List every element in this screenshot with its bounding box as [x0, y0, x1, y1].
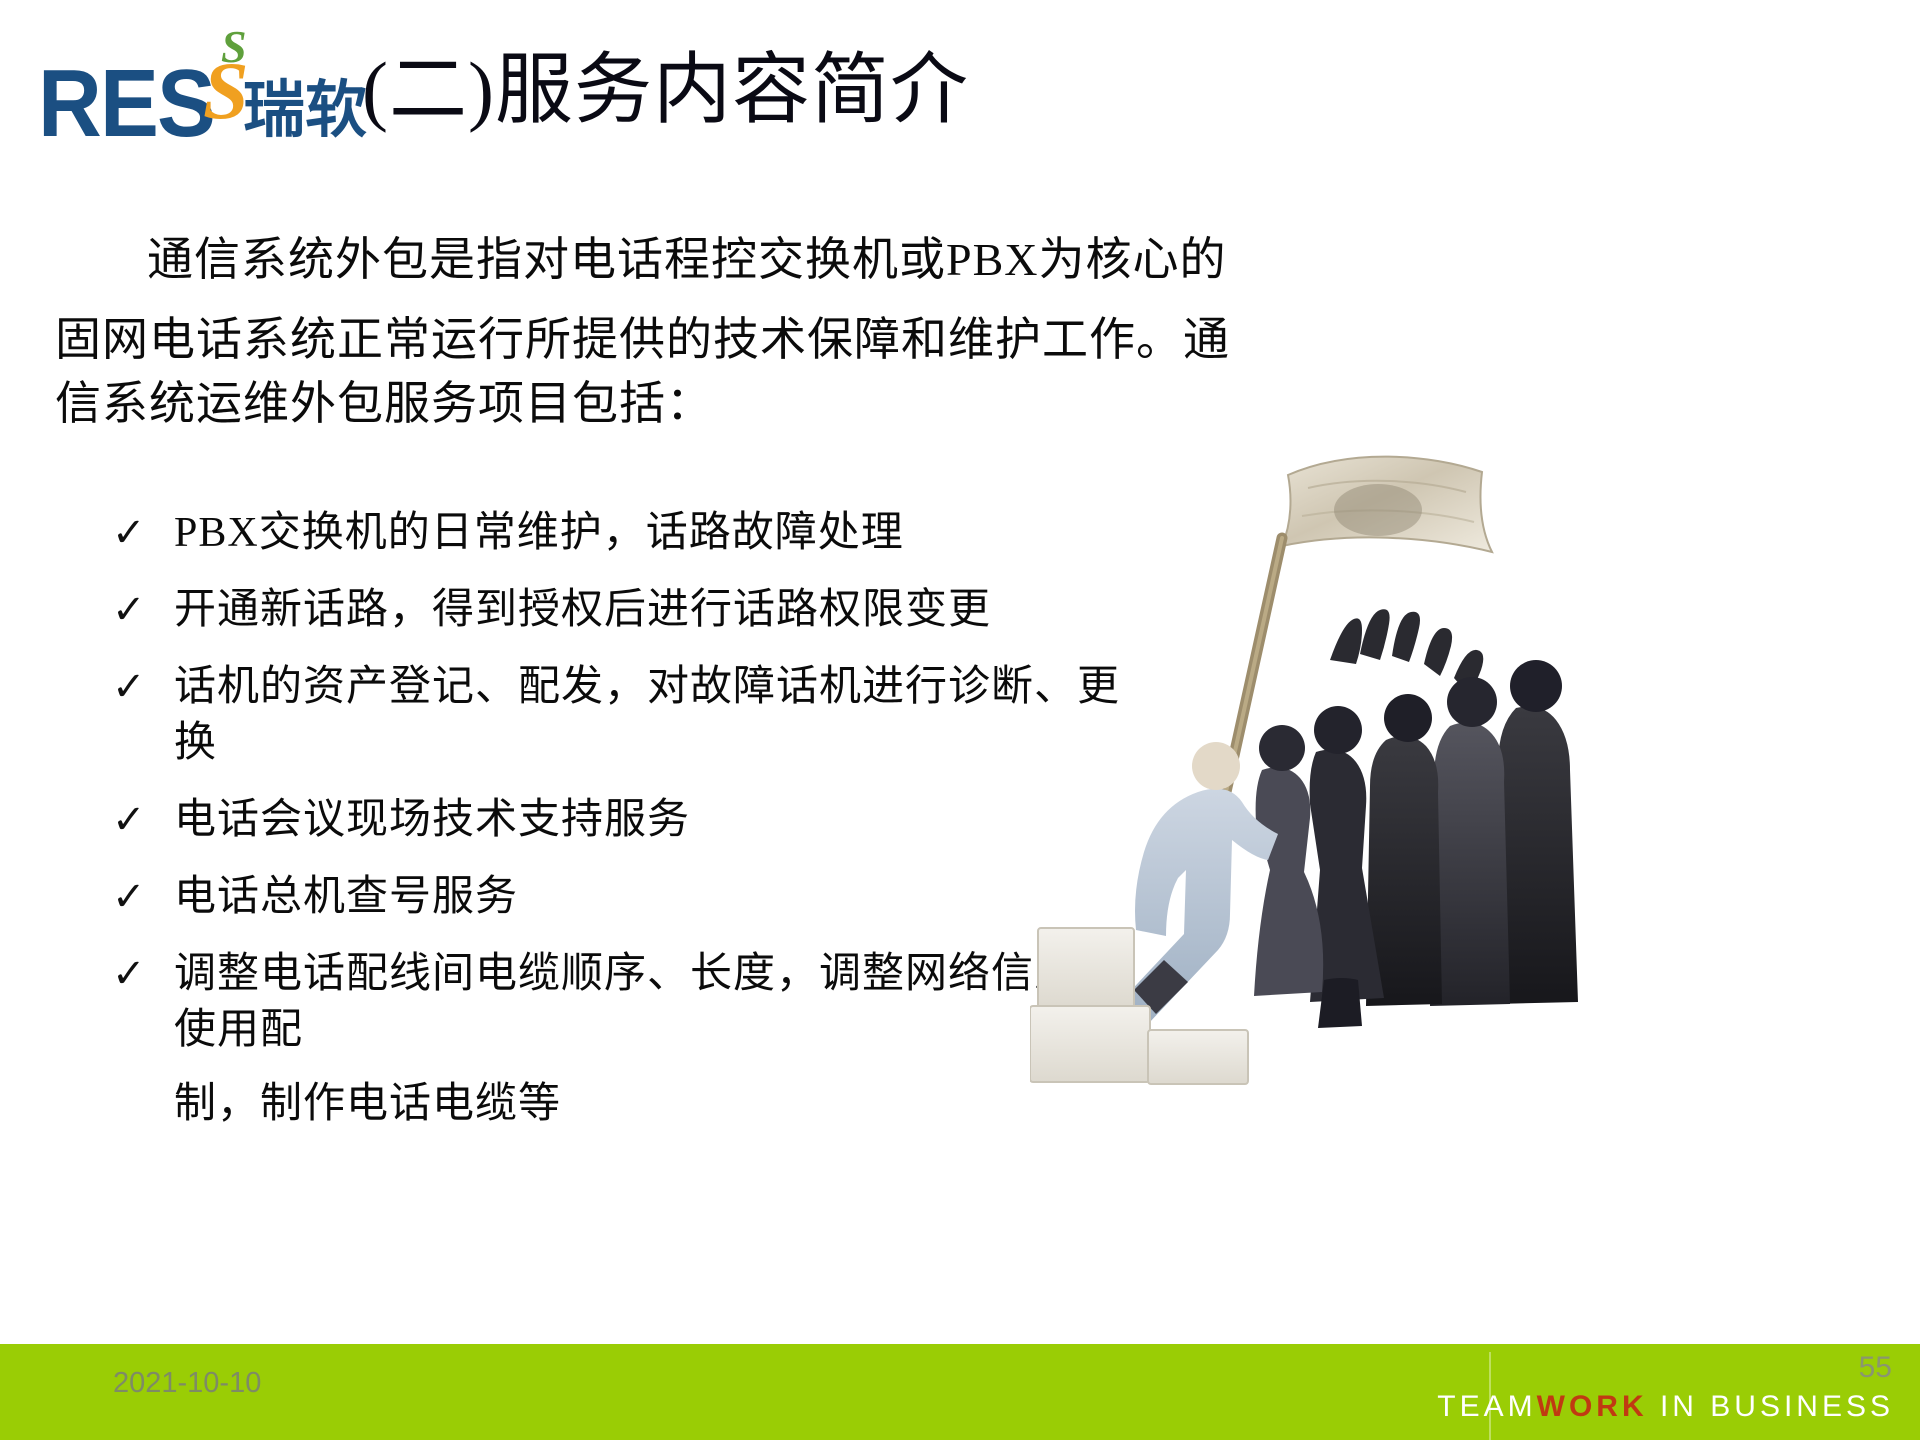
list-item-label: PBX交换机的日常维护，话路故障处理 [174, 505, 1122, 561]
slide-header: RES S S 瑞软 (二)服务内容简介 [0, 0, 1920, 175]
checkmark-icon: ✓ [112, 946, 174, 1002]
service-item-list: ✓ PBX交换机的日常维护，话路故障处理 ✓ 开通新话路，得到授权后进行话路权限… [112, 505, 1122, 1153]
paragraph-line: 通信系统外包是指对电话程控交换机或PBX为核心的 [55, 228, 1065, 292]
logo-wordmark-res: RES [38, 56, 214, 152]
list-item: ✓ 电话总机查号服务 [112, 869, 1122, 925]
list-item-label-line2: 制，制作电话电缆等 [174, 1076, 1122, 1132]
paragraph-line-text: 通信系统外包是指对电话程控交换机或PBX为核心的 [147, 234, 1226, 285]
person-silhouette [1430, 722, 1510, 1006]
box [1038, 928, 1134, 1008]
checkmark-icon: ✓ [112, 869, 174, 925]
paragraph-line-text: 信系统运维外包服务项目包括： [55, 378, 713, 429]
list-item: ✓ PBX交换机的日常维护，话路故障处理 [112, 505, 1122, 561]
list-item: ✓ 话机的资产登记、配发，对故障话机进行诊断、更换 [112, 659, 1122, 771]
list-item-label: 电话总机查号服务 [174, 869, 1122, 925]
list-item: ✓ 调整电话配线间电缆顺序、长度，调整网络信息点使用配制，制作电话电缆等 [112, 946, 1122, 1132]
paragraph-line: 信系统运维外包服务项目包括： [55, 372, 1065, 436]
page-number: 55 [1859, 1350, 1892, 1386]
checkmark-icon: ✓ [112, 792, 174, 848]
box [1030, 1006, 1150, 1082]
list-item-label: 电话会议现场技术支持服务 [174, 792, 1122, 848]
checkmark-icon: ✓ [112, 659, 174, 715]
list-item-label-line1: 调整电话配线间电缆顺序、长度，调整网络信息点使用配 [174, 951, 1120, 1053]
page-title: (二)服务内容简介 [362, 42, 969, 138]
tagline-prefix: TEAM [1437, 1390, 1536, 1423]
list-item: ✓ 开通新话路，得到授权后进行话路权限变更 [112, 582, 1122, 638]
list-item: ✓ 电话会议现场技术支持服务 [112, 792, 1122, 848]
paragraph-line: 固网电话系统正常运行所提供的技术保障和维护工作。通 [55, 308, 1065, 372]
footer-date: 2021-10-10 [113, 1366, 261, 1400]
list-item-label: 话机的资产登记、配发，对故障话机进行诊断、更换 [174, 659, 1122, 771]
logo-wordmark-chinese: 瑞软 [243, 80, 367, 142]
slide-footer: 2021-10-10 55 TEAMWORK IN BUSINESS [0, 1344, 1920, 1440]
paragraph-line-text: 固网电话系统正常运行所提供的技术保障和维护工作。通 [55, 314, 1230, 365]
list-item-label: 开通新话路，得到授权后进行话路权限变更 [174, 582, 1122, 638]
checkmark-icon: ✓ [112, 505, 174, 561]
tagline-highlight: WORK [1537, 1390, 1648, 1423]
team-raising-flag-photo [1030, 440, 1750, 1100]
list-item-label: 调整电话配线间电缆顺序、长度，调整网络信息点使用配制，制作电话电缆等 [174, 946, 1122, 1132]
footer-tagline: TEAMWORK IN BUSINESS [1437, 1388, 1894, 1426]
slide-root: RES S S 瑞软 (二)服务内容简介 通信系统外包是指对电话程控交换机或PB… [0, 0, 1920, 1440]
logo-green-s-icon: S [221, 24, 247, 70]
company-logo: RES S S 瑞软 [38, 18, 368, 143]
checkmark-icon: ✓ [112, 582, 174, 638]
box [1148, 1030, 1248, 1084]
tagline-suffix: IN BUSINESS [1648, 1390, 1894, 1423]
intro-paragraph: 通信系统外包是指对电话程控交换机或PBX为核心的 固网电话系统正常运行所提供的技… [55, 228, 1065, 436]
